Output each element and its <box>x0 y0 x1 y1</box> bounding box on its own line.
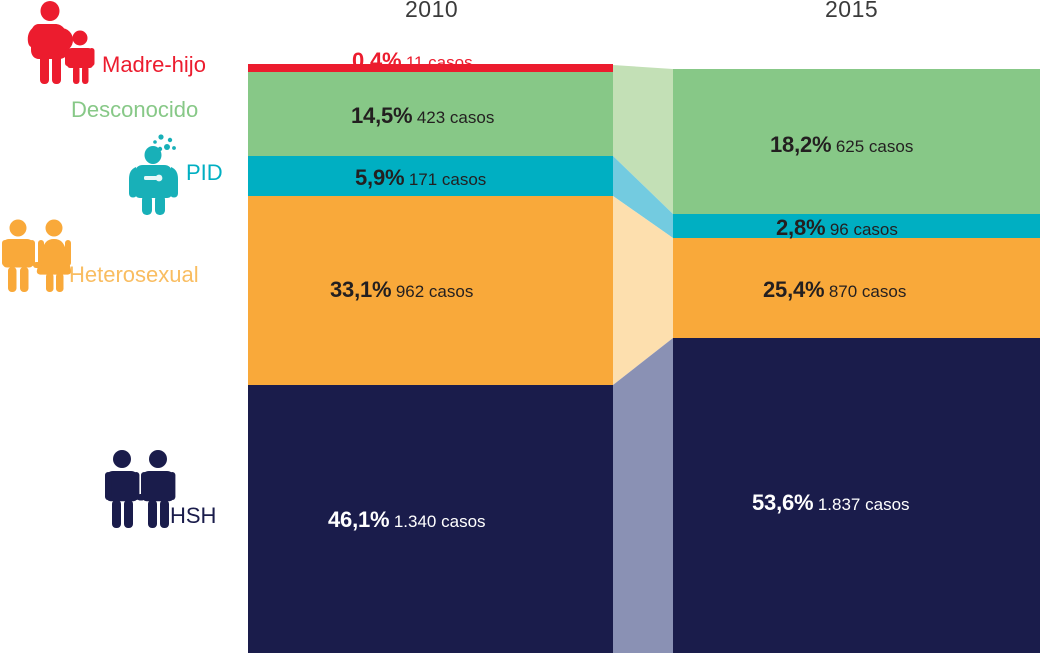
percent-value: 46,1% <box>328 507 389 532</box>
man-and-woman-couple-icon <box>2 218 74 297</box>
cases-value: 1.837 casos <box>818 495 910 514</box>
ribbon-hsh <box>613 338 673 653</box>
cases-value: 625 casos <box>836 137 914 156</box>
category-label-desconocido: Desconocido <box>71 97 198 123</box>
value-2015-hsh: 53,6% 1.837 casos <box>752 492 910 514</box>
category-label-hsh: HSH <box>170 503 216 529</box>
value-2010-heterosexual: 33,1% 962 casos <box>330 279 473 301</box>
infographic-canvas: 2010 2015 <box>0 0 1040 657</box>
percent-value: 33,1% <box>330 277 391 302</box>
value-2010-desconocido: 14,5% 423 casos <box>351 105 494 127</box>
value-2015-desconocido: 18,2% 625 casos <box>770 134 913 156</box>
value-2015-heterosexual: 25,4% 870 casos <box>763 279 906 301</box>
cases-value: 962 casos <box>396 282 474 301</box>
cases-value: 423 casos <box>417 108 495 127</box>
pregnant-woman-and-child-icon <box>18 0 104 89</box>
cases-value: 1.340 casos <box>394 512 486 531</box>
cases-value: 870 casos <box>829 282 907 301</box>
value-2010-pid: 5,9% 171 casos <box>355 167 486 189</box>
injecting-drug-user-icon <box>127 133 189 220</box>
cases-value: 11 casos <box>406 53 473 72</box>
percent-value: 2,8% <box>776 215 825 240</box>
value-2015-pid: 2,8% 96 casos <box>776 217 898 239</box>
value-2010-hsh: 46,1% 1.340 casos <box>328 509 486 531</box>
percent-value: 25,4% <box>763 277 824 302</box>
two-men-couple-icon <box>105 448 177 533</box>
value-2010-madre-hijo: 0,4% 11 casos <box>352 50 473 72</box>
percent-value: 18,2% <box>770 132 831 157</box>
category-label-heterosexual: Heterosexual <box>69 262 199 288</box>
cases-value: 171 casos <box>409 170 487 189</box>
cases-value: 96 casos <box>830 220 898 239</box>
percent-value: 53,6% <box>752 490 813 515</box>
percent-value: 0,4% <box>352 48 401 73</box>
percent-value: 14,5% <box>351 103 412 128</box>
percent-value: 5,9% <box>355 165 404 190</box>
category-label-madre-hijo: Madre-hijo <box>102 52 206 78</box>
category-label-pid: PID <box>186 160 223 186</box>
